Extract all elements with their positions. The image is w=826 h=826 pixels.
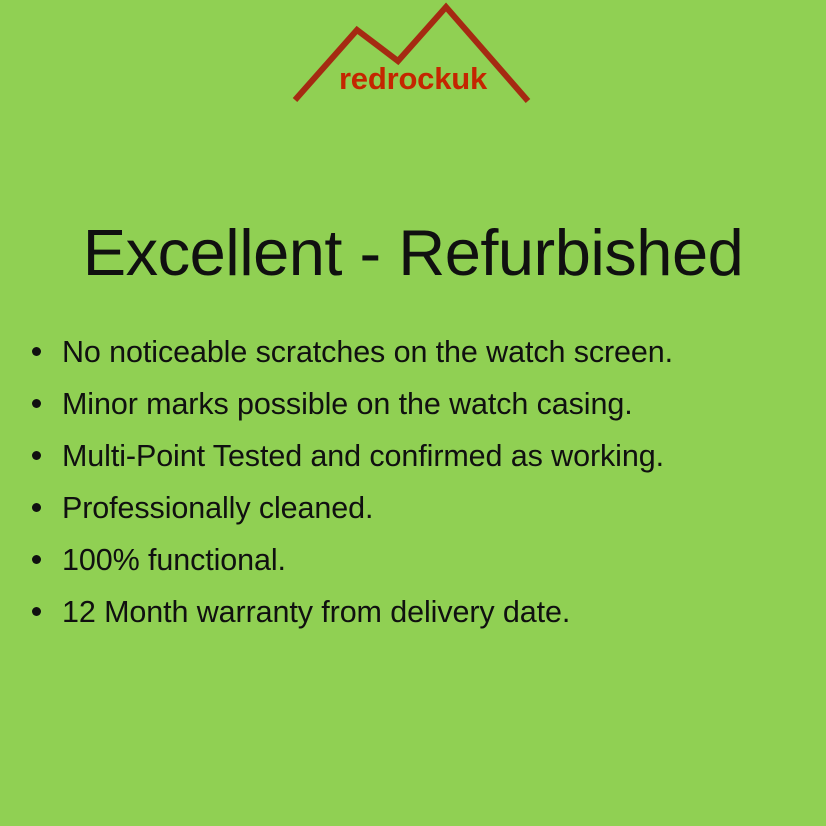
list-item: 12 Month warranty from delivery date. bbox=[26, 589, 816, 641]
list-item-label: 100% functional. bbox=[62, 537, 286, 583]
bullet-icon bbox=[32, 607, 41, 616]
list-item-label: Professionally cleaned. bbox=[62, 485, 373, 531]
list-item: Multi-Point Tested and confirmed as work… bbox=[26, 433, 816, 485]
list-item-label: No noticeable scratches on the watch scr… bbox=[62, 329, 673, 375]
bullet-icon bbox=[32, 347, 41, 356]
brand-logo: redrockuk bbox=[0, 0, 826, 112]
page-title: Excellent - Refurbished bbox=[0, 220, 826, 285]
list-item: Professionally cleaned. bbox=[26, 485, 816, 537]
condition-feature-list: No noticeable scratches on the watch scr… bbox=[26, 329, 816, 641]
brand-wordmark: redrockuk bbox=[0, 63, 826, 94]
bullet-icon bbox=[32, 503, 41, 512]
refurbished-condition-card: redrockuk Excellent - Refurbished No not… bbox=[0, 0, 826, 826]
list-item-label: Minor marks possible on the watch casing… bbox=[62, 381, 633, 427]
list-item-label: Multi-Point Tested and confirmed as work… bbox=[62, 433, 664, 479]
bullet-icon bbox=[32, 399, 41, 408]
list-item-label: 12 Month warranty from delivery date. bbox=[62, 589, 570, 635]
list-item: No noticeable scratches on the watch scr… bbox=[26, 329, 816, 381]
list-item: 100% functional. bbox=[26, 537, 816, 589]
bullet-icon bbox=[32, 451, 41, 460]
list-item: Minor marks possible on the watch casing… bbox=[26, 381, 816, 433]
bullet-icon bbox=[32, 555, 41, 564]
